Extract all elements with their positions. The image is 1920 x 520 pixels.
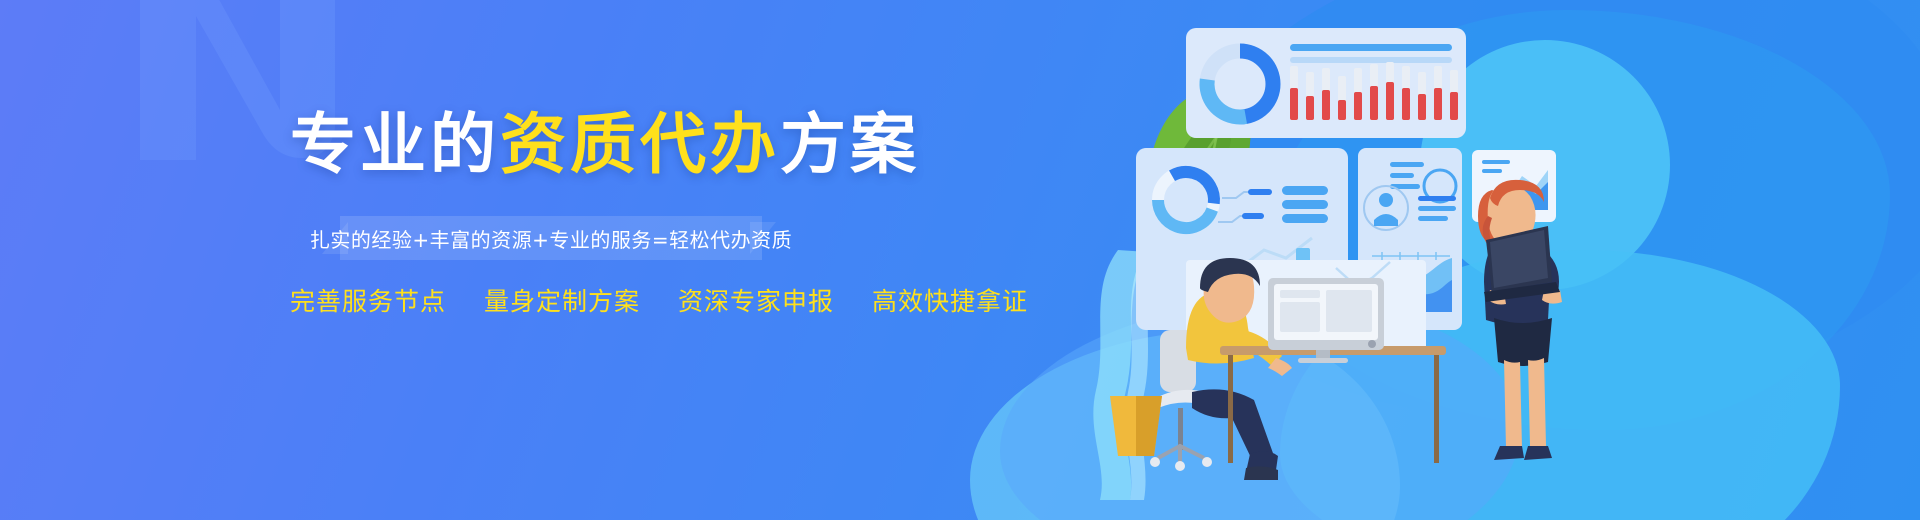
subtitle-text: 扎实的经验+丰富的资源+专业的服务=轻松代办资质: [340, 216, 762, 260]
plant-pot: [1110, 396, 1162, 456]
subtitle-ribbon: 扎实的经验+丰富的资源+专业的服务=轻松代办资质: [322, 216, 762, 260]
promo-banner: 专业的资质代办方案 扎实的经验+丰富的资源+专业的服务=轻松代办资质 完善服务节…: [0, 0, 1920, 520]
dashboard-card-top: [1186, 28, 1466, 138]
text-column: 专业的资质代办方案 扎实的经验+丰富的资源+专业的服务=轻松代办资质 完善服务节…: [0, 0, 900, 520]
feature-item-4: 高效快捷拿证: [872, 282, 1028, 318]
feature-item-3: 资深专家申报: [678, 282, 834, 318]
feature-item-2: 量身定制方案: [484, 282, 640, 318]
title-part-white-2: 方案: [780, 106, 920, 183]
illustration-analytics-scene: [1100, 0, 1920, 520]
title-part-yellow: 资质代办: [500, 106, 780, 183]
title-part-white-1: 专业的: [290, 106, 500, 183]
feature-list: 完善服务节点 量身定制方案 资深专家申报 高效快捷拿证: [290, 282, 1028, 318]
page-title: 专业的资质代办方案: [290, 112, 920, 178]
feature-item-1: 完善服务节点: [290, 282, 446, 318]
